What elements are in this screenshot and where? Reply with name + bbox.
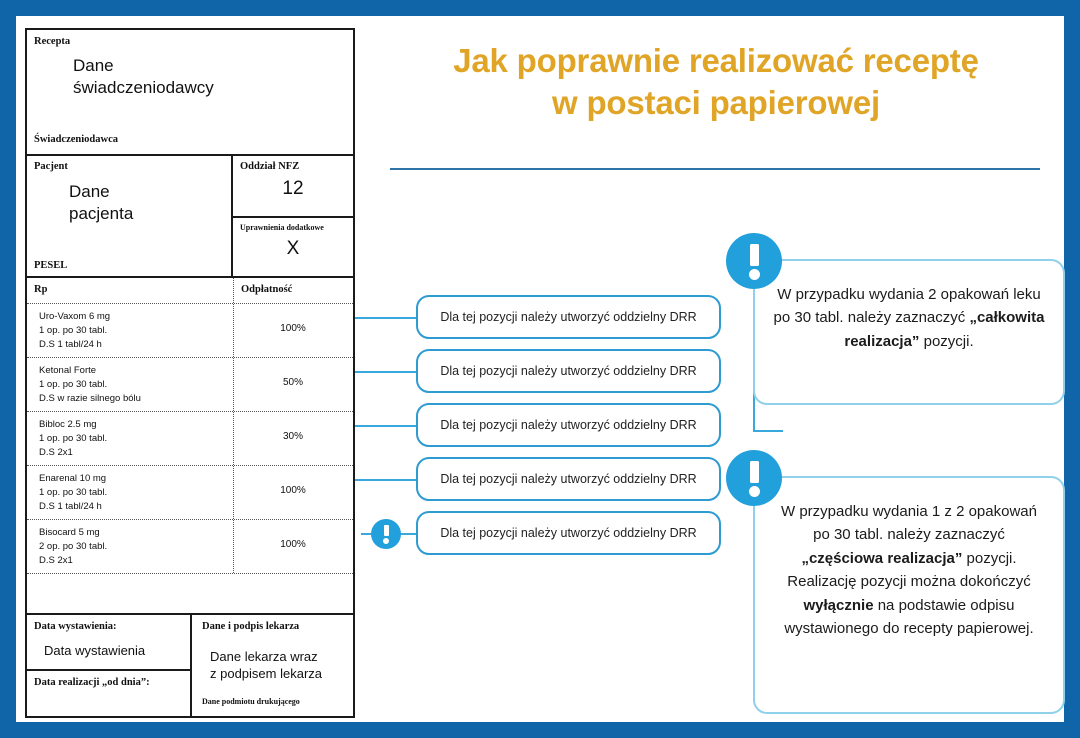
- drr-box-label: Dla tej pozycji należy utworzyć oddzieln…: [418, 310, 719, 324]
- issue-date-label: Data wystawienia:: [34, 621, 117, 633]
- footer-dates-cell: Data wystawienia: Data wystawienia Data …: [27, 615, 192, 716]
- table-row: Ketonal Forte 1 op. po 30 tabl. D.S w ra…: [27, 358, 353, 412]
- connector-line-row3: [355, 425, 418, 427]
- exclamation-dot: [749, 486, 760, 497]
- provider-data: Dane świadczeniodawcy: [73, 55, 323, 100]
- info-panel-partial-text: W przypadku wydania 1 z 2 opakowań po 30…: [771, 500, 1047, 640]
- drug-dosage: D.S 2x1: [39, 446, 107, 460]
- rp-column-header: Rp: [34, 284, 47, 296]
- rp-table-body: Uro-Vaxom 6 mg 1 op. po 30 tabl. D.S 1 t…: [27, 304, 353, 590]
- drug-dosage: D.S w razie silnego bólu: [39, 392, 141, 406]
- page-title-line1: Jak poprawnie realizować receptę: [388, 40, 1044, 82]
- patient-block: Pacjent Dane pacjenta PESEL Oddział NFZ …: [27, 156, 353, 278]
- connector-line-row4: [355, 479, 418, 481]
- issue-date-cell: Data wystawienia: Data wystawienia: [27, 615, 190, 671]
- info-panel-complete: W przypadku wydania 2 opakowań leku po 3…: [753, 259, 1065, 405]
- drug-packs: 1 op. po 30 tabl.: [39, 432, 107, 446]
- emphasis: „całkowita realizacja”: [844, 309, 1044, 349]
- drug-dosage: D.S 1 tabl/24 h: [39, 338, 110, 352]
- doctor-value-line2: z podpisem lekarza: [210, 666, 322, 683]
- drug-info: Ketonal Forte 1 op. po 30 tabl. D.S w ra…: [39, 364, 141, 405]
- table-row: Uro-Vaxom 6 mg 1 op. po 30 tabl. D.S 1 t…: [27, 304, 353, 358]
- pacjent-label: Pacjent: [34, 161, 68, 173]
- exclamation-bar: [384, 525, 389, 536]
- drug-dosage: D.S 1 tabl/24 h: [39, 500, 107, 514]
- printing-entity-label: Dane podmiotu drukującego: [202, 697, 300, 706]
- drr-box-3: Dla tej pozycji należy utworzyć oddzieln…: [416, 403, 721, 447]
- drug-payment: 30%: [233, 431, 353, 442]
- page-title-line2: w postaci papierowej: [388, 82, 1044, 124]
- table-row: Bibloc 2.5 mg 1 op. po 30 tabl. D.S 2x1 …: [27, 412, 353, 466]
- prescription-card: Recepta Dane świadczeniodawcy Świadczeni…: [25, 28, 355, 718]
- doctor-value-line1: Dane lekarza wraz: [210, 649, 322, 666]
- drug-packs: 1 op. po 30 tabl.: [39, 486, 107, 500]
- patient-data: Dane pacjenta: [69, 181, 133, 226]
- provider-block: Recepta Dane świadczeniodawcy Świadczeni…: [27, 30, 353, 156]
- info-panel-complete-text: W przypadku wydania 2 opakowań leku po 3…: [771, 283, 1047, 353]
- nfz-cell: Oddział NFZ 12: [233, 156, 353, 218]
- drug-name: Bibloc 2.5 mg: [39, 418, 107, 432]
- rp-empty-area: [27, 590, 353, 615]
- drr-box-2: Dla tej pozycji należy utworzyć oddzieln…: [416, 349, 721, 393]
- drug-payment: 100%: [233, 539, 353, 550]
- swiadczeniodawca-label: Świadczeniodawca: [34, 134, 118, 146]
- patient-side-cells: Oddział NFZ 12 Uprawnienia dodatkowe X: [233, 156, 353, 276]
- drug-packs: 1 op. po 30 tabl.: [39, 378, 141, 392]
- drug-payment: 100%: [233, 485, 353, 496]
- connector-line-panel1: [753, 430, 783, 432]
- recepta-label: Recepta: [34, 36, 70, 48]
- drug-packs: 1 op. po 30 tabl.: [39, 324, 110, 338]
- title-divider: [390, 168, 1040, 170]
- exclamation-bar: [750, 244, 759, 266]
- uprawnienia-label: Uprawnienia dodatkowe: [240, 223, 324, 232]
- drug-info: Uro-Vaxom 6 mg 1 op. po 30 tabl. D.S 1 t…: [39, 310, 110, 351]
- provider-data-line2: świadczeniodawcy: [73, 77, 323, 99]
- exclamation-icon-small: [371, 519, 401, 549]
- doctor-signature-value: Dane lekarza wraz z podpisem lekarza: [210, 649, 322, 683]
- emphasis: „częściowa realizacja”: [801, 550, 962, 567]
- uprawnienia-value: X: [233, 238, 353, 260]
- pesel-label: PESEL: [34, 260, 67, 272]
- drr-box-4: Dla tej pozycji należy utworzyć oddzieln…: [416, 457, 721, 501]
- rp-header-column-divider: [233, 278, 234, 303]
- prescription-footer: Data wystawienia: Data wystawienia Data …: [27, 615, 353, 716]
- drug-info: Bisocard 5 mg 2 op. po 30 tabl. D.S 2x1: [39, 526, 107, 567]
- exclamation-bar: [750, 461, 759, 483]
- drug-payment: 50%: [233, 377, 353, 388]
- drr-box-label: Dla tej pozycji należy utworzyć oddzieln…: [418, 364, 719, 378]
- drr-box-1: Dla tej pozycji należy utworzyć oddzieln…: [416, 295, 721, 339]
- patient-data-line1: Dane: [69, 181, 133, 203]
- drug-name: Bisocard 5 mg: [39, 526, 107, 540]
- patient-data-line2: pacjenta: [69, 203, 133, 225]
- drug-payment: 100%: [233, 323, 353, 334]
- patient-cell: Pacjent Dane pacjenta PESEL: [27, 156, 233, 276]
- connector-line-row1: [355, 317, 418, 319]
- rp-table-header: Rp Odpłatność: [27, 278, 353, 304]
- drug-info: Bibloc 2.5 mg 1 op. po 30 tabl. D.S 2x1: [39, 418, 107, 459]
- exclamation-dot: [749, 269, 760, 280]
- table-row: Bisocard 5 mg 2 op. po 30 tabl. D.S 2x1 …: [27, 520, 353, 574]
- provider-data-line1: Dane: [73, 55, 323, 77]
- exclamation-icon-2: [726, 450, 782, 506]
- footer-doctor-cell: Dane i podpis lekarza Dane lekarza wraz …: [192, 615, 353, 716]
- drr-box-label: Dla tej pozycji należy utworzyć oddzieln…: [418, 418, 719, 432]
- drug-info: Enarenal 10 mg 1 op. po 30 tabl. D.S 1 t…: [39, 472, 107, 513]
- slide-page: Recepta Dane świadczeniodawcy Świadczeni…: [0, 0, 1080, 738]
- drr-box-label: Dla tej pozycji należy utworzyć oddzieln…: [418, 472, 719, 486]
- issue-date-value: Data wystawienia: [44, 643, 145, 660]
- drug-name: Uro-Vaxom 6 mg: [39, 310, 110, 324]
- extra-rights-cell: Uprawnienia dodatkowe X: [233, 218, 353, 276]
- info-panel-partial: W przypadku wydania 1 z 2 opakowań po 30…: [753, 476, 1065, 714]
- oddzial-nfz-value: 12: [233, 178, 353, 200]
- payment-column-header: Odpłatność: [241, 284, 292, 296]
- connector-line-row2: [355, 371, 418, 373]
- table-row: Enarenal 10 mg 1 op. po 30 tabl. D.S 1 t…: [27, 466, 353, 520]
- emphasis: wyłącznie: [804, 597, 874, 614]
- drr-box-5: Dla tej pozycji należy utworzyć oddzieln…: [416, 511, 721, 555]
- drug-packs: 2 op. po 30 tabl.: [39, 540, 107, 554]
- drug-dosage: D.S 2x1: [39, 554, 107, 568]
- drr-box-label: Dla tej pozycji należy utworzyć oddzieln…: [418, 526, 719, 540]
- oddzial-nfz-label: Oddział NFZ: [240, 161, 299, 173]
- page-title: Jak poprawnie realizować receptę w posta…: [388, 40, 1044, 124]
- realization-date-label: Data realizacji „od dnia”:: [34, 677, 150, 689]
- doctor-signature-label: Dane i podpis lekarza: [202, 621, 299, 633]
- drug-name: Ketonal Forte: [39, 364, 141, 378]
- drug-name: Enarenal 10 mg: [39, 472, 107, 486]
- exclamation-icon-1: [726, 233, 782, 289]
- page-title-text: Jak poprawnie realizować receptę w posta…: [388, 40, 1044, 124]
- exclamation-dot: [383, 538, 389, 544]
